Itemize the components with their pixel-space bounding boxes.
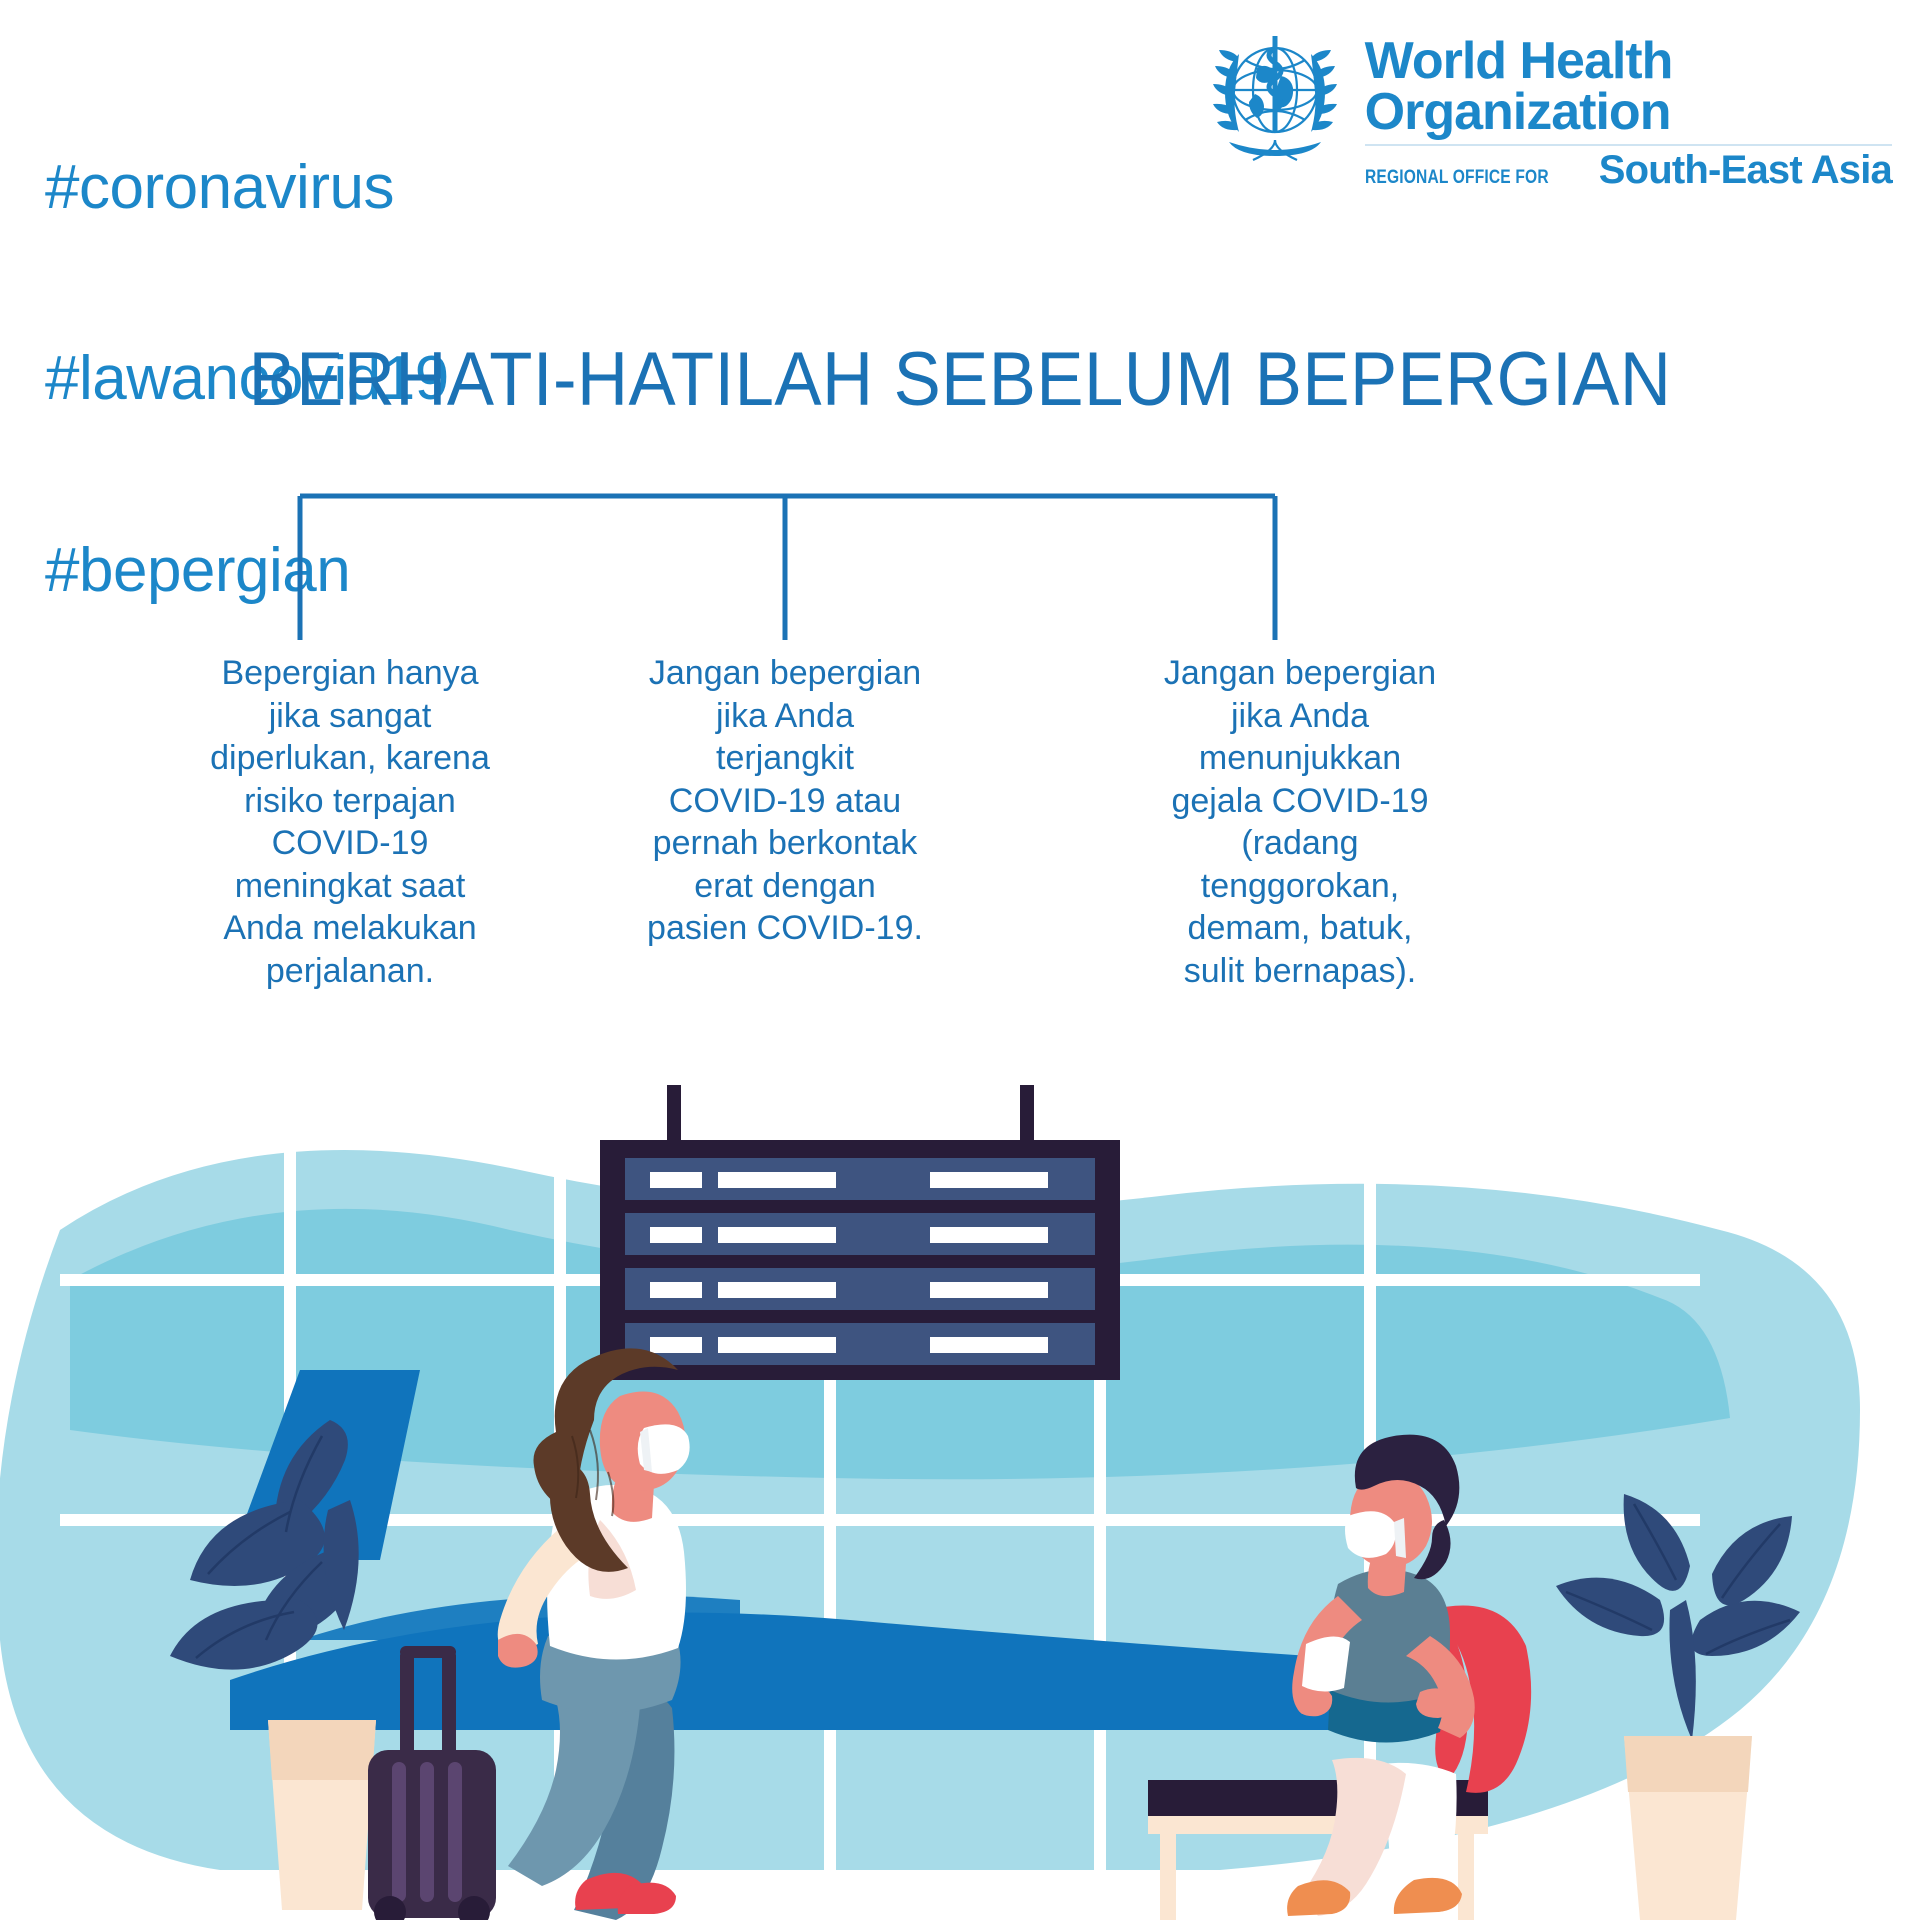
page-title: BERHATI-HATILAH SEBELUM BEPERGIAN (67, 336, 1853, 423)
who-logo: World Health Organization REGIONAL OFFIC… (1195, 18, 1892, 190)
who-region-name: South-East Asia (1599, 150, 1892, 190)
who-wordmark: World Health Organization REGIONAL OFFIC… (1365, 18, 1892, 190)
who-name-line2: Organization (1365, 87, 1892, 138)
bench-leg-right (1458, 1834, 1474, 1920)
column-text-3: Jangan bepergian jika Anda menunjukkan g… (1110, 652, 1490, 992)
infographic-page: #coronavirus #lawancovid19 #bepergian (0, 0, 1920, 1920)
who-name-line1: World Health (1365, 36, 1892, 87)
column-text-1: Bepergian hanya jika sangat diperlukan, … (160, 652, 540, 992)
boarding-pass (1302, 1636, 1350, 1691)
board-row (625, 1268, 1095, 1310)
board-row (625, 1158, 1095, 1200)
board-row (625, 1213, 1095, 1255)
who-emblem-icon (1195, 18, 1355, 188)
departure-board (600, 1085, 1120, 1380)
columns-container: Bepergian hanya jika sangat diperlukan, … (0, 652, 1920, 952)
board-row (625, 1323, 1095, 1365)
who-divider (1365, 144, 1892, 146)
who-region-prefix: REGIONAL OFFICE FOR (1365, 167, 1549, 189)
bench-leg-left (1160, 1834, 1176, 1920)
man-shoe-front (1287, 1880, 1350, 1916)
airport-departure-scene (0, 1080, 1920, 1920)
man-mask (1345, 1511, 1396, 1558)
column-text-2: Jangan bepergian jika Anda terjangkit CO… (620, 652, 950, 950)
bracket-connector (0, 480, 1920, 650)
hashtag-1: #coronavirus (45, 156, 449, 220)
